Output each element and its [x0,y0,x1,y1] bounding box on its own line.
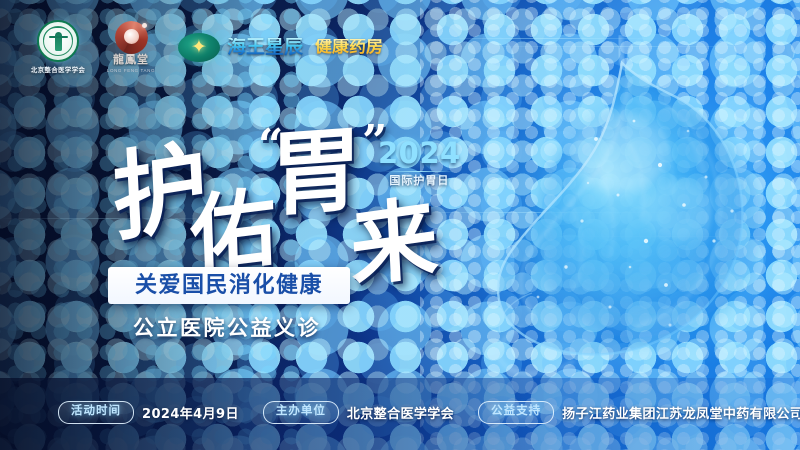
footer-label-time: 活动时间 [58,401,134,424]
logo-pinyin: LONG FENG TANG [107,68,155,73]
year-label: 2024 [378,139,461,168]
logo-brand-text: 海王星辰 [227,38,303,57]
logo-caption: 北京整合医学学会 [31,64,85,74]
logo-haiwang-xingchen[interactable]: ✦ 海王星辰 健康药房 [178,33,383,62]
footer-item-organizer: 主办单位 北京整合医学学会 [263,401,454,424]
logo-name: 龍鳳堂 [113,55,149,67]
logo-beijing-integrated-medicine[interactable]: 北京整合医学学会 [26,20,90,74]
footer-value-organizer: 北京整合医学学会 [347,403,454,422]
footer-bar: 活动时间 2024年4月9日 主办单位 北京整合医学学会 公益支持 扬子江药业集… [0,378,800,450]
footer-value-time: 2024年4月9日 [142,403,239,422]
footer-item-support: 公益支持 扬子江药业集团江苏龙凤堂中药有限公司 [478,401,800,424]
footer-items: 活动时间 2024年4月9日 主办单位 北京整合医学学会 公益支持 扬子江药业集… [58,401,800,424]
footer-item-time: 活动时间 2024年4月9日 [58,401,239,424]
footer-value-support: 扬子江药业集团江苏龙凤堂中药有限公司 [562,403,800,422]
sponsor-logo-bar: 北京整合医学学会 龍鳳堂 LONG FENG TANG ✦ 海王星辰 健康药房 [26,16,383,78]
poster-canvas: 北京整合医学学会 龍鳳堂 LONG FENG TANG ✦ 海王星辰 健康药房 … [0,0,800,450]
year-block: 2024 国际护胃日 [378,139,461,187]
year-divider [383,171,455,172]
circular-emblem-icon [37,20,79,62]
year-subtitle: 国际护胃日 [378,176,461,187]
logo-longfengtang[interactable]: 龍鳳堂 LONG FENG TANG [103,21,159,73]
swirl-emblem-icon [115,21,148,54]
primary-slogan-box: 关爱国民消化健康 [108,267,350,304]
secondary-slogan-text: 公立医院公益义诊 [133,318,321,339]
primary-slogan-text: 关爱国民消化健康 [135,275,323,297]
logo-pharmacy-text: 健康药房 [315,39,383,56]
footer-label-support: 公益支持 [478,401,554,424]
stomach-illustration [470,35,800,380]
star-oval-icon: ✦ [178,33,220,62]
title-char-4: 来 [348,192,440,292]
footer-label-organizer: 主办单位 [263,401,339,424]
